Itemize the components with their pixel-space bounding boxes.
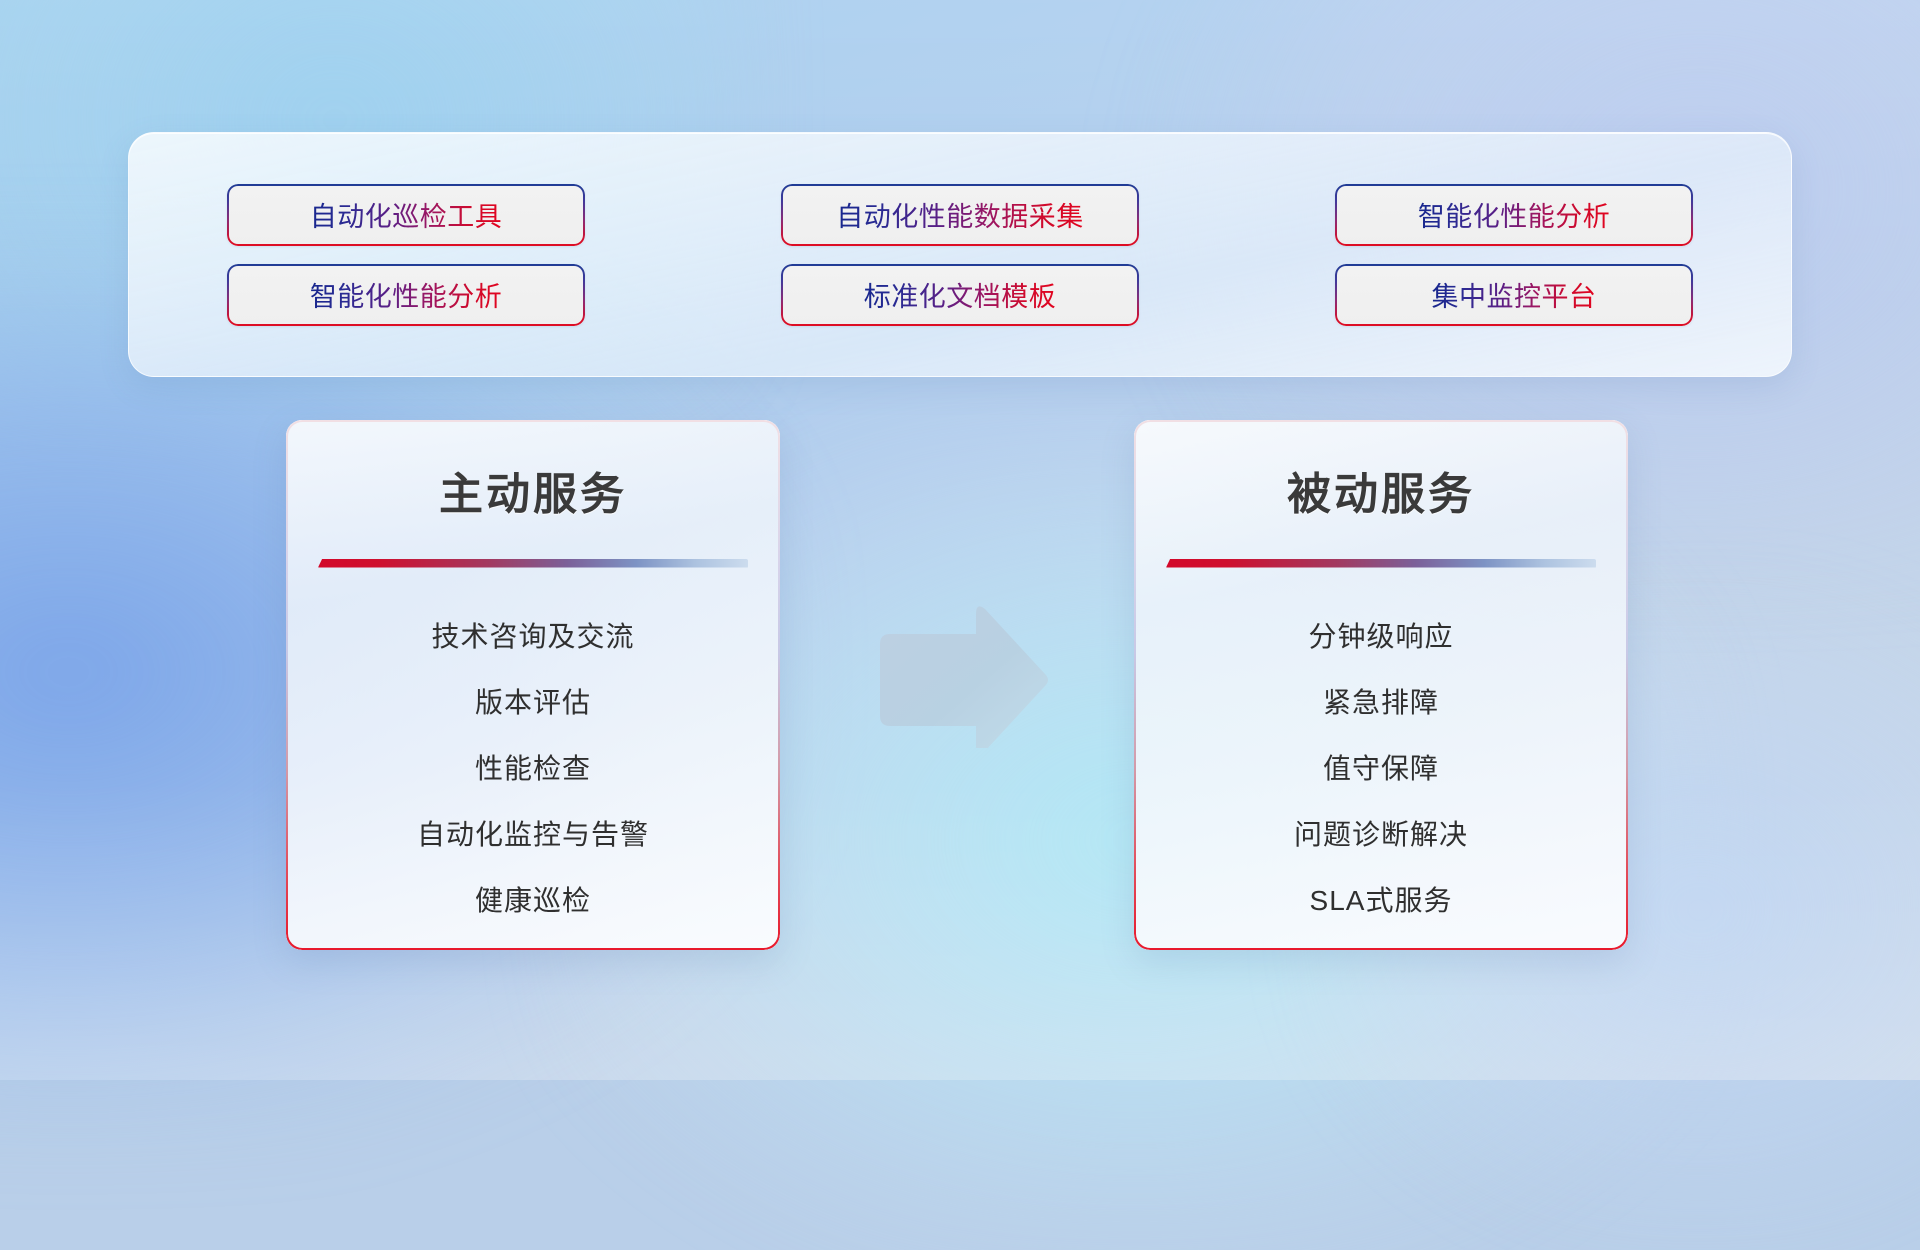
service-list-item[interactable]: 性能检查 bbox=[286, 734, 780, 800]
capability-pill-4[interactable]: 智能化性能分析 bbox=[227, 264, 585, 326]
service-card-reactive: 被动服务 分钟级响应 紧急排障 值守保障 问题诊断解决 SLA式服务 bbox=[1134, 420, 1628, 950]
service-list-item[interactable]: 分钟级响应 bbox=[1134, 602, 1628, 668]
arrow-right-icon bbox=[872, 600, 1050, 748]
title-divider bbox=[1166, 559, 1596, 568]
capability-pill-label: 智能化性能分析 bbox=[310, 275, 503, 314]
service-item-list: 技术咨询及交流 版本评估 性能检查 自动化监控与告警 健康巡检 bbox=[286, 602, 780, 932]
service-list-item[interactable]: 问题诊断解决 bbox=[1134, 800, 1628, 866]
service-card-title: 被动服务 bbox=[1134, 458, 1628, 522]
service-list-item[interactable]: 技术咨询及交流 bbox=[286, 602, 780, 668]
service-card-proactive: 主动服务 技术咨询及交流 版本评估 性能检查 自动化监控与告警 健康巡检 bbox=[286, 420, 780, 950]
service-list-item[interactable]: 值守保障 bbox=[1134, 734, 1628, 800]
capabilities-row-1: 自动化巡检工具 自动化性能数据采集 智能化性能分析 bbox=[129, 184, 1791, 246]
capabilities-row-2: 智能化性能分析 标准化文档模板 集中监控平台 bbox=[129, 264, 1791, 326]
service-list-item[interactable]: 自动化监控与告警 bbox=[286, 800, 780, 866]
service-list-item[interactable]: 紧急排障 bbox=[1134, 668, 1628, 734]
capability-pill-3[interactable]: 智能化性能分析 bbox=[1335, 184, 1693, 246]
capability-pill-5[interactable]: 标准化文档模板 bbox=[781, 264, 1139, 326]
capability-pill-2[interactable]: 自动化性能数据采集 bbox=[781, 184, 1139, 246]
capability-pill-label: 自动化性能数据采集 bbox=[836, 195, 1084, 234]
service-item-list: 分钟级响应 紧急排障 值守保障 问题诊断解决 SLA式服务 bbox=[1134, 602, 1628, 932]
service-card-title: 主动服务 bbox=[286, 458, 780, 522]
capabilities-panel: 自动化巡检工具 自动化性能数据采集 智能化性能分析 智能化性能分析 标准化文档模… bbox=[128, 132, 1792, 377]
service-list-item[interactable]: 版本评估 bbox=[286, 668, 780, 734]
service-list-item[interactable]: SLA式服务 bbox=[1134, 866, 1628, 932]
capability-pill-label: 标准化文档模板 bbox=[864, 275, 1057, 314]
service-list-item[interactable]: 健康巡检 bbox=[286, 866, 780, 932]
capability-pill-label: 自动化巡检工具 bbox=[310, 195, 503, 234]
title-divider bbox=[318, 559, 748, 568]
capability-pill-1[interactable]: 自动化巡检工具 bbox=[227, 184, 585, 246]
capability-pill-6[interactable]: 集中监控平台 bbox=[1335, 264, 1693, 326]
capability-pill-label: 集中监控平台 bbox=[1432, 275, 1597, 314]
capability-pill-label: 智能化性能分析 bbox=[1418, 195, 1611, 234]
